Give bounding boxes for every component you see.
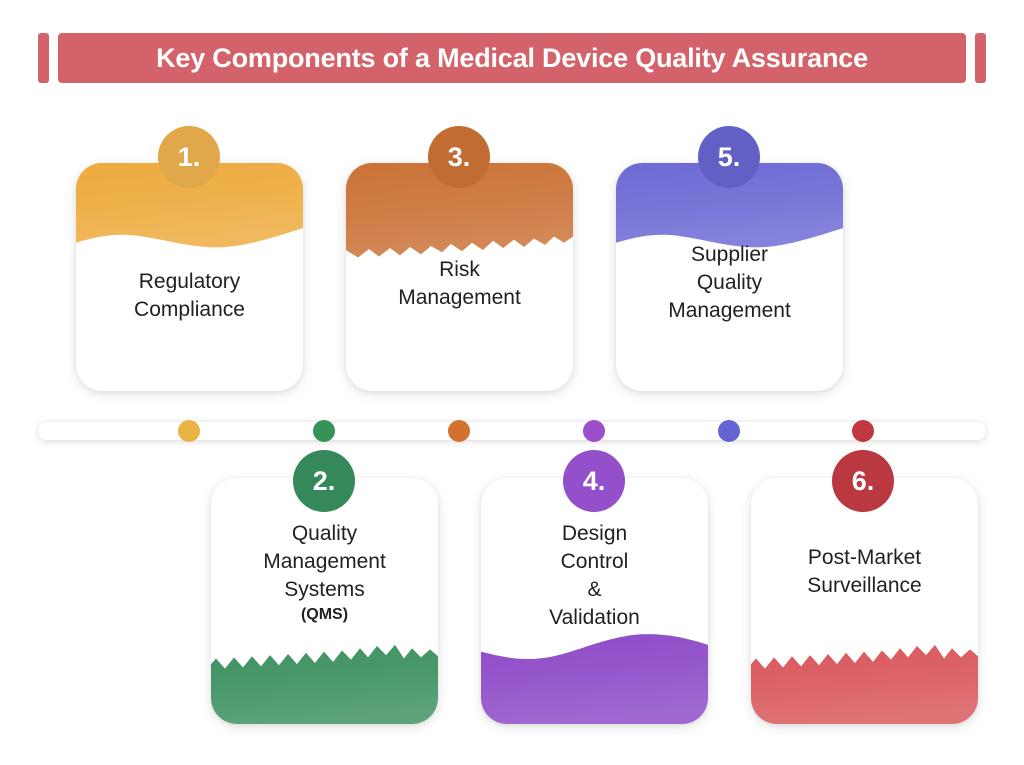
title-bar: Key Components of a Medical Device Quali… [58, 33, 966, 83]
step-badge-4[interactable]: 4. [563, 450, 625, 512]
card-5[interactable]: SupplierQualityManagement [616, 163, 843, 391]
card-label-5: SupplierQualityManagement [616, 241, 843, 325]
card-1[interactable]: RegulatoryCompliance [76, 163, 303, 391]
card-label-line: Quality [624, 269, 835, 297]
card-6[interactable]: Post-MarketSurveillance [751, 478, 978, 724]
page-title: Key Components of a Medical Device Quali… [156, 43, 868, 74]
card-label-line: Validation [489, 604, 700, 632]
step-badge-5[interactable]: 5. [698, 126, 760, 188]
card-label-line: Design [489, 520, 700, 548]
timeline-dot-1[interactable] [178, 420, 200, 442]
card-3[interactable]: RiskManagement [346, 163, 573, 391]
card-label-line: Management [219, 548, 430, 576]
card-label-6: Post-MarketSurveillance [751, 544, 978, 600]
title-tick-right [975, 33, 986, 83]
card-label-line: Compliance [84, 296, 295, 324]
infographic-canvas: Key Components of a Medical Device Quali… [0, 0, 1024, 765]
watercolor-wash-2 [211, 611, 438, 724]
card-label-line: Management [354, 284, 565, 312]
card-label-4: DesignControl&Validation [481, 520, 708, 632]
timeline-dot-4[interactable] [583, 420, 605, 442]
step-badge-3[interactable]: 3. [428, 126, 490, 188]
watercolor-wash-6 [751, 611, 978, 724]
card-label-1: RegulatoryCompliance [76, 268, 303, 324]
card-label-line: Systems [219, 576, 430, 604]
card-4[interactable]: DesignControl&Validation [481, 478, 708, 724]
title-banner: Key Components of a Medical Device Quali… [38, 33, 986, 83]
card-2[interactable]: QualityManagementSystems(QMS) [211, 478, 438, 724]
step-badge-1[interactable]: 1. [158, 126, 220, 188]
timeline-dot-3[interactable] [448, 420, 470, 442]
timeline-dot-2[interactable] [313, 420, 335, 442]
step-badge-2[interactable]: 2. [293, 450, 355, 512]
timeline-dot-5[interactable] [718, 420, 740, 442]
card-label-line: Risk [354, 256, 565, 284]
step-badge-6[interactable]: 6. [832, 450, 894, 512]
card-label-3: RiskManagement [346, 256, 573, 312]
title-tick-left [38, 33, 49, 83]
card-label-line: Management [624, 297, 835, 325]
card-label-line: & [489, 576, 700, 604]
card-label-2: QualityManagementSystems(QMS) [211, 520, 438, 625]
timeline-dot-6[interactable] [852, 420, 874, 442]
card-label-line: Supplier [624, 241, 835, 269]
card-label-line: Quality [219, 520, 430, 548]
card-label-line: Surveillance [759, 572, 970, 600]
card-sublabel-2: (QMS) [219, 604, 430, 626]
card-label-line: Post-Market [759, 544, 970, 572]
card-label-line: Regulatory [84, 268, 295, 296]
card-label-line: Control [489, 548, 700, 576]
